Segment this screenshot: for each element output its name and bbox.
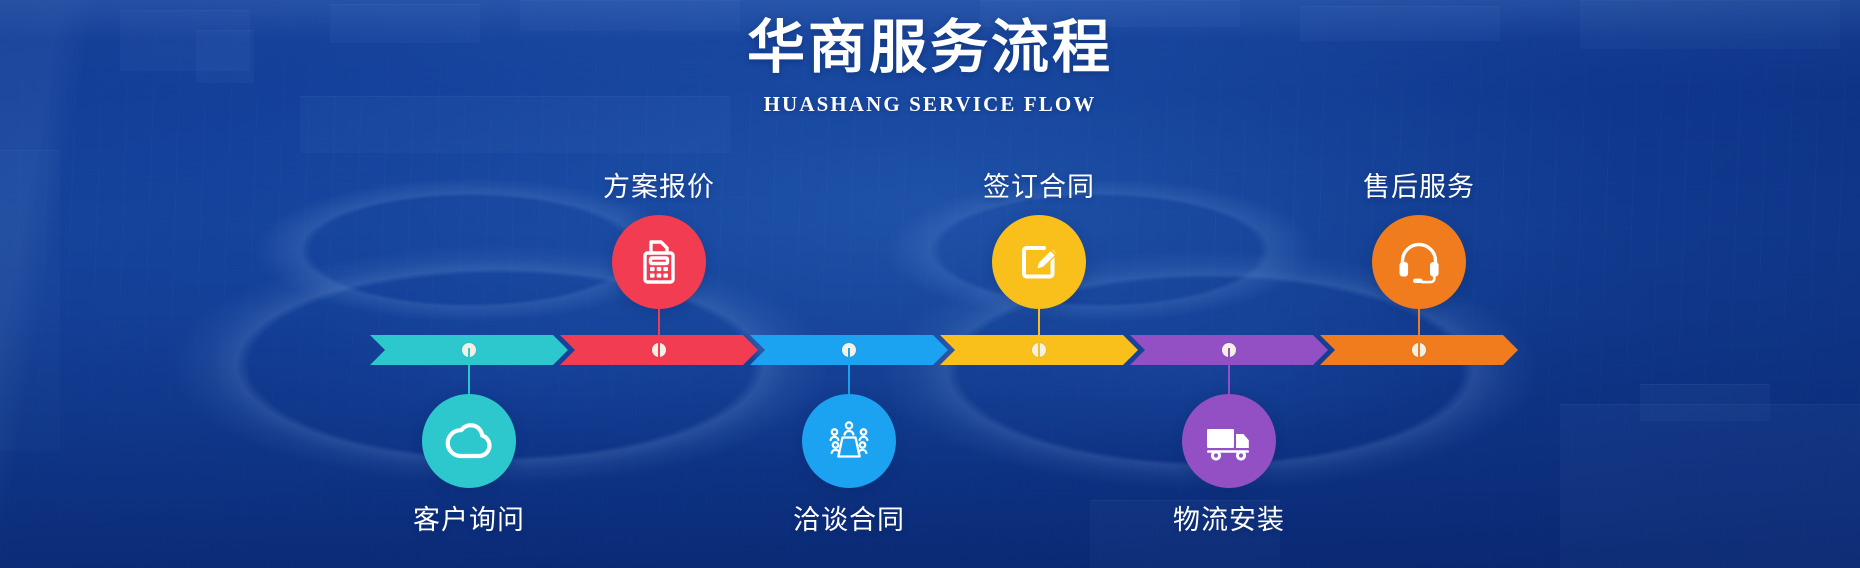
page-title: 华商服务流程 — [0, 14, 1860, 81]
cloud-chat-icon-bubble[interactable] — [422, 394, 516, 488]
flow-step-label: 签订合同 — [899, 165, 1179, 204]
flow-step-label: 方案报价 — [519, 165, 799, 204]
meeting-table-icon-bubble[interactable] — [802, 394, 896, 488]
connector-line — [468, 348, 470, 396]
page-subtitle: HUASHANG SERVICE FLOW — [0, 92, 1860, 117]
banner-heading: 华商服务流程 HUASHANG SERVICE FLOW — [0, 14, 1860, 117]
headset-support-icon — [1393, 237, 1445, 287]
flow-step-label: 洽谈合同 — [709, 498, 989, 537]
service-flow-banner: 华商服务流程 HUASHANG SERVICE FLOW — [0, 0, 1860, 568]
headset-support-icon-bubble[interactable] — [1372, 215, 1466, 309]
connector-line — [1038, 309, 1040, 357]
connector-line — [848, 348, 850, 396]
meeting-table-icon — [824, 416, 874, 466]
edit-pencil-icon — [1013, 236, 1065, 288]
calculator-receipt-icon — [634, 236, 684, 288]
connector-line — [658, 309, 660, 357]
flow-step-label: 客户询问 — [329, 498, 609, 537]
delivery-truck-icon — [1202, 416, 1256, 466]
edit-pencil-icon-bubble[interactable] — [992, 215, 1086, 309]
delivery-truck-icon-bubble[interactable] — [1182, 394, 1276, 488]
calculator-receipt-icon-bubble[interactable] — [612, 215, 706, 309]
flow-step-label: 物流安装 — [1089, 498, 1369, 537]
connector-line — [1418, 309, 1420, 357]
flow-arrow-chain — [370, 335, 1505, 365]
connector-line — [1228, 348, 1230, 396]
cloud-chat-icon — [443, 415, 495, 467]
flow-step-label: 售后服务 — [1279, 165, 1559, 204]
